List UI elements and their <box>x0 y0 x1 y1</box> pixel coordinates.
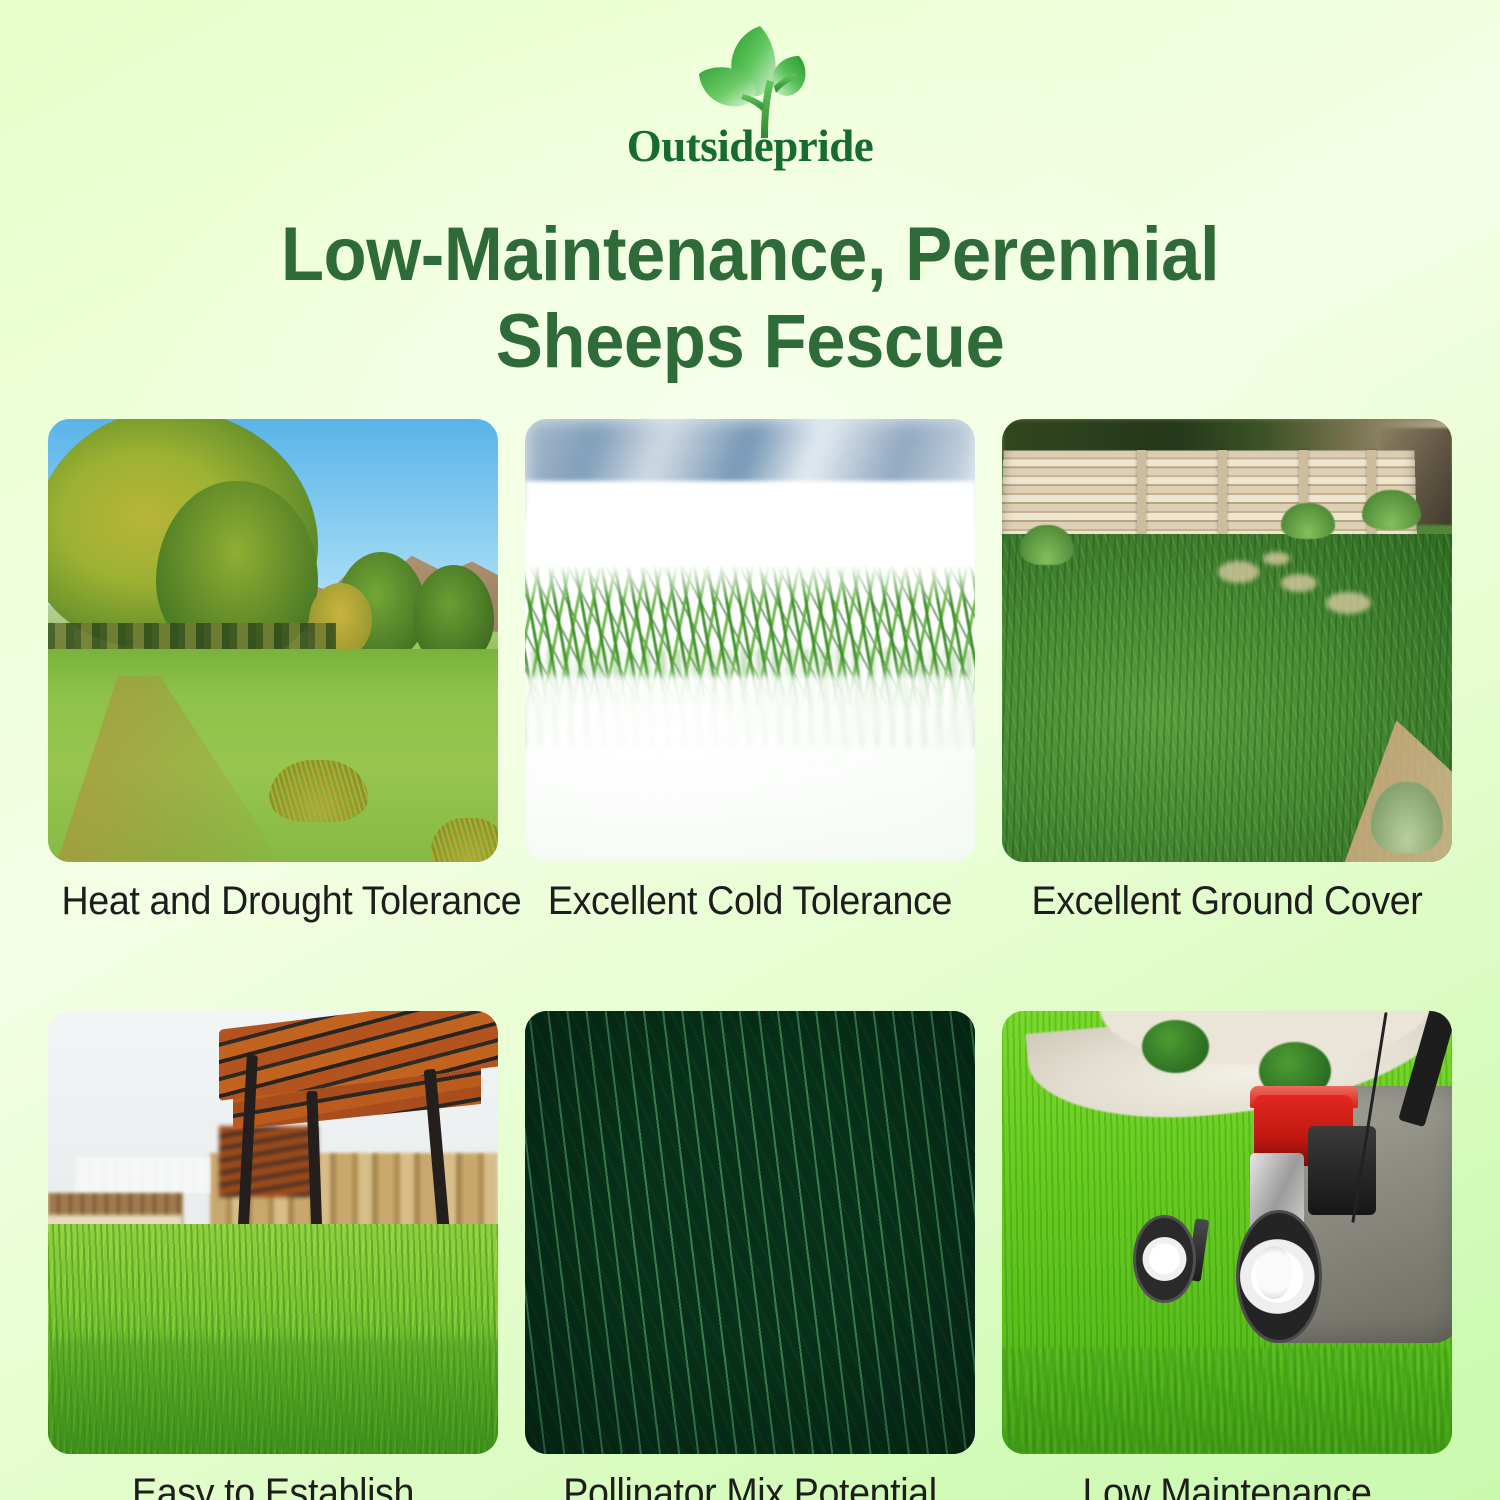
feature-card: Heat and Drought Tolerance <box>48 419 498 923</box>
feature-grid: Heat and Drought Tolerance Excellent Col… <box>48 419 1452 1500</box>
feature-caption: Low Maintenance <box>1016 1471 1439 1500</box>
page-title: Low-Maintenance, Perennial Sheeps Fescue <box>53 212 1448 385</box>
feature-caption: Heat and Drought Tolerance <box>62 879 485 923</box>
feature-image-easy-establish <box>48 1011 498 1454</box>
feature-image-heat-drought <box>48 419 498 862</box>
feature-card: Easy to Establish <box>48 1011 498 1500</box>
feature-card: Low Maintenance <box>1002 1011 1452 1500</box>
headline-line-2: Sheeps Fescue <box>53 299 1448 386</box>
feature-caption: Easy to Establish <box>62 1471 485 1500</box>
feature-image-low-maintenance <box>1002 1011 1452 1454</box>
headline-line-1: Low-Maintenance, Perennial <box>281 212 1219 297</box>
feature-image-ground-cover <box>1002 419 1452 862</box>
feature-image-pollinator-mix <box>525 1011 975 1454</box>
feature-card: Pollinator Mix Potential <box>525 1011 975 1500</box>
brand-lockup: Outsidepride <box>0 18 1500 169</box>
brand-wordmark: Outsidepride <box>627 124 874 169</box>
feature-caption: Pollinator Mix Potential <box>539 1471 962 1500</box>
infographic-poster: Outsidepride Low-Maintenance, Perennial … <box>0 0 1500 1500</box>
feature-card: Excellent Cold Tolerance <box>525 419 975 923</box>
feature-card: Excellent Ground Cover <box>1002 419 1452 923</box>
feature-image-cold-tolerance <box>525 419 975 862</box>
feature-caption: Excellent Ground Cover <box>1016 879 1439 923</box>
feature-caption: Excellent Cold Tolerance <box>539 879 962 923</box>
